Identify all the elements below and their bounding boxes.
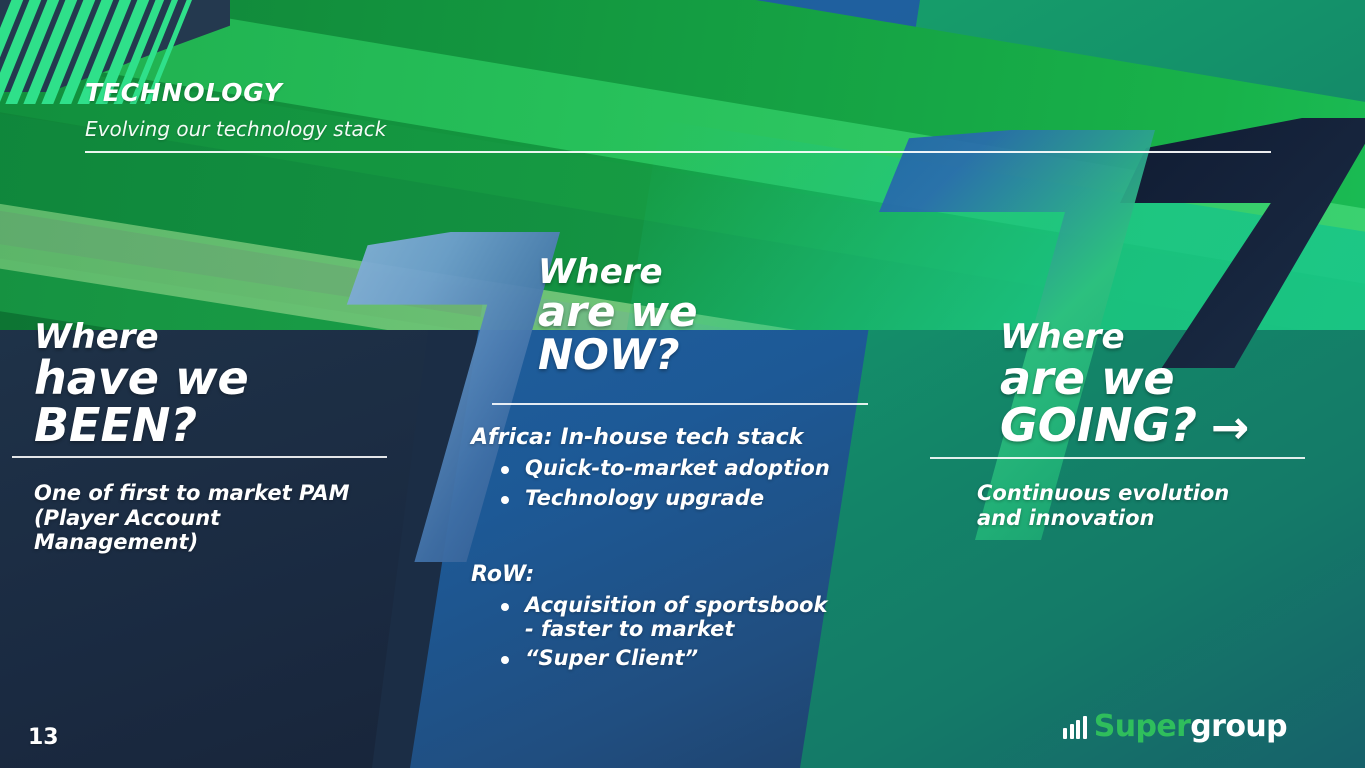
column-going-title-line3: GOING?→ — [1000, 402, 1360, 451]
list-item: Acquisition of sportsbook - faster to ma… — [501, 594, 901, 641]
slide-header: TECHNOLOGY Evolving our technology stack — [85, 80, 386, 139]
column-now-section-africa: Africa: In-house tech stack Quick-to-mar… — [471, 425, 891, 516]
column-been-divider — [12, 456, 387, 458]
column-now-title: Where are we NOW? — [538, 255, 898, 377]
list-item-label: “Super Client” — [525, 646, 698, 670]
header-title: TECHNOLOGY — [85, 80, 386, 105]
logo-wordmark: Supergroup — [1094, 712, 1287, 742]
column-now-divider — [492, 403, 868, 405]
section-heading-africa: Africa: In-house tech stack — [471, 425, 891, 451]
list-item: “Super Client” — [501, 647, 901, 671]
list-item: Quick-to-market adoption — [501, 457, 891, 481]
logo-word-group: group — [1190, 709, 1287, 744]
bullet-list-row: Acquisition of sportsbook - faster to ma… — [471, 594, 901, 671]
column-where-have-we-been: Where have we BEEN? — [34, 320, 394, 450]
bullet-dot-icon — [501, 656, 509, 664]
list-item: Technology upgrade — [501, 487, 891, 511]
column-been-title: Where have we BEEN? — [34, 320, 394, 450]
column-where-are-we-going: Where are we GOING?→ — [1000, 320, 1360, 452]
column-going-divider — [930, 457, 1305, 459]
header-subtitle: Evolving our technology stack — [85, 119, 386, 139]
supergroup-logo: Supergroup — [1063, 712, 1287, 742]
logo-word-super: Super — [1094, 709, 1191, 744]
section-heading-row: RoW: — [471, 562, 901, 588]
list-item-label: Acquisition of sportsbook — [525, 593, 827, 617]
list-item-continuation: - faster to market — [525, 618, 901, 642]
list-item-label: Quick-to-market adoption — [525, 456, 830, 480]
page-number: 13 — [28, 725, 59, 750]
arrow-right-icon: → — [1211, 404, 1250, 451]
bullet-dot-icon — [501, 603, 509, 611]
column-going-title: Where are we GOING?→ — [1000, 320, 1360, 452]
bullet-dot-icon — [501, 496, 509, 504]
signal-bars-icon — [1063, 716, 1087, 739]
column-now-section-row: RoW: Acquisition of sportsbook - faster … — [471, 562, 901, 677]
list-item-label: Technology upgrade — [525, 486, 764, 510]
column-been-body: One of first to market PAM (Player Accou… — [34, 481, 354, 555]
bullet-dot-icon — [501, 466, 509, 474]
bullet-list-africa: Quick-to-market adoption Technology upgr… — [471, 457, 891, 510]
slide-canvas: TECHNOLOGY Evolving our technology stack… — [0, 0, 1365, 768]
column-going-body: Continuous evolution and innovation — [977, 481, 1307, 530]
column-where-are-we-now: Where are we NOW? — [538, 255, 898, 377]
header-divider — [85, 151, 1271, 153]
